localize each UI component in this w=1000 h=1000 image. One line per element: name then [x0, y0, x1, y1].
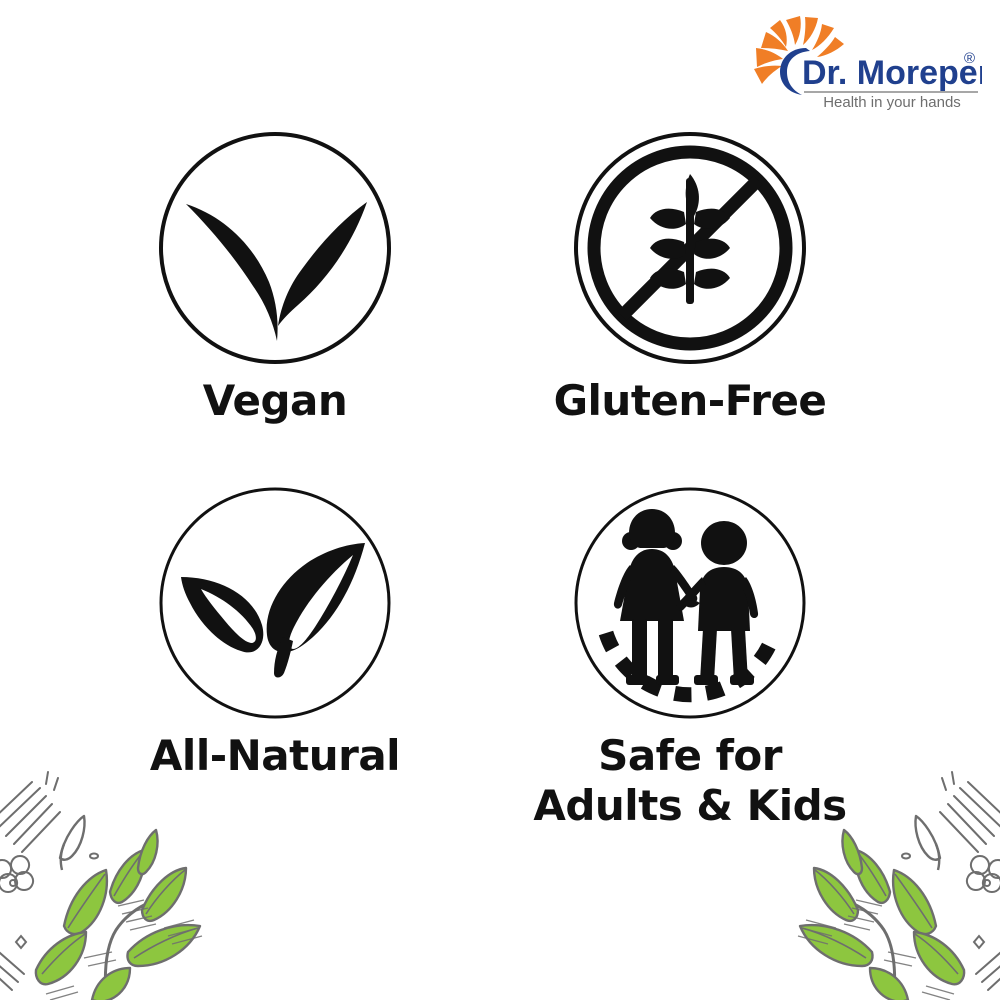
no-wheat-circle-icon [572, 130, 808, 366]
branch-stem [105, 904, 146, 998]
registered-mark-icon: ® [964, 50, 975, 67]
brand-name: Dr. Morepen [802, 54, 982, 92]
badge-label-all-natural: All-Natural [75, 731, 475, 781]
brand-logo: Dr. Morepen ® Health in your hands [742, 14, 982, 110]
badge-label-gluten-free: Gluten-Free [490, 376, 890, 426]
badge-vegan[interactable]: Vegan [75, 130, 475, 426]
badge-label-safe-for-adults-kids: Safe for Adults & Kids [490, 731, 890, 830]
wheat-icon [650, 174, 730, 304]
badge-grid: Vegan [0, 130, 1000, 870]
badge-safe-for-adults-kids[interactable]: Safe for Adults & Kids [490, 485, 890, 830]
badge-label-vegan: Vegan [75, 376, 475, 426]
badge-gluten-free[interactable]: Gluten-Free [490, 130, 890, 426]
protection-arc-icon [606, 633, 774, 695]
brand-tagline: Health in your hands [823, 94, 961, 110]
infographic-canvas: Dr. Morepen ® Health in your hands [0, 0, 1000, 1000]
two-leaves-circle-icon [157, 485, 393, 721]
badge-all-natural[interactable]: All-Natural [75, 485, 475, 781]
vegan-leaf-circle-icon [157, 130, 393, 366]
adults-and-kids-circle-icon [572, 485, 808, 721]
